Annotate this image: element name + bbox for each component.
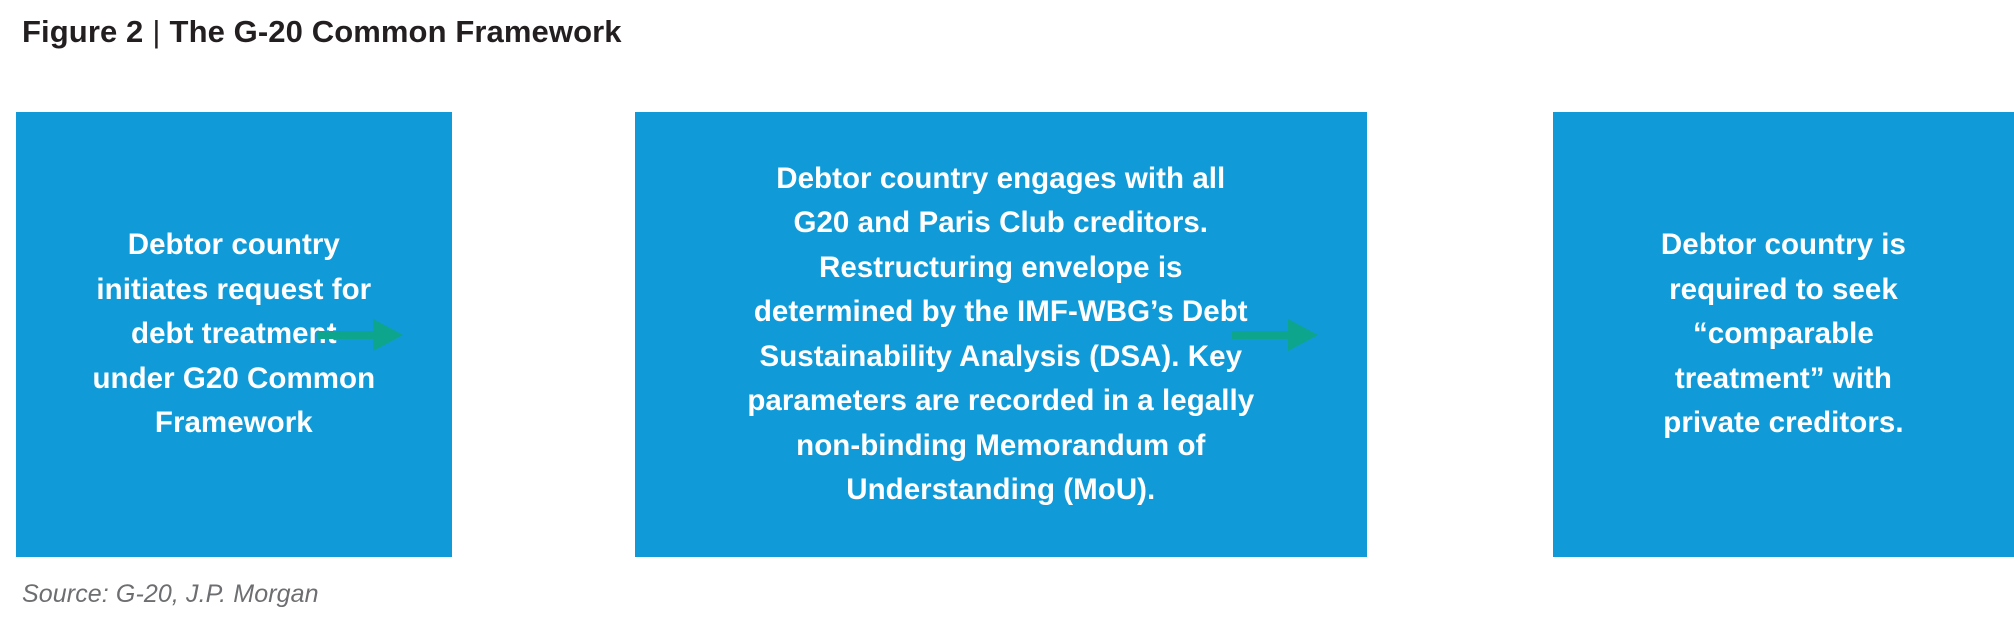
page-title: The G-20 Common Framework — [170, 14, 622, 49]
figure-container: Figure 2|The G-20 Common Framework Debto… — [0, 0, 2014, 633]
flow-step-2-text: Debtor country engages with all G20 and … — [747, 157, 1254, 513]
title-separator: | — [143, 10, 169, 54]
figure-label: Figure 2 — [22, 14, 143, 49]
flow-step-3: Debtor country is required to seek “comp… — [1553, 112, 2014, 557]
figure-title: Figure 2|The G-20 Common Framework — [22, 10, 622, 54]
flow-step-3-text: Debtor country is required to seek “comp… — [1661, 223, 1906, 446]
flow-step-1-text: Debtor country initiates request for deb… — [92, 223, 375, 446]
flow-diagram: Debtor country initiates request for deb… — [0, 112, 2014, 557]
flow-step-1: Debtor country initiates request for deb… — [16, 112, 452, 557]
flow-step-2: Debtor country engages with all G20 and … — [635, 112, 1367, 557]
source-note: Source: G-20, J.P. Morgan — [22, 580, 319, 609]
